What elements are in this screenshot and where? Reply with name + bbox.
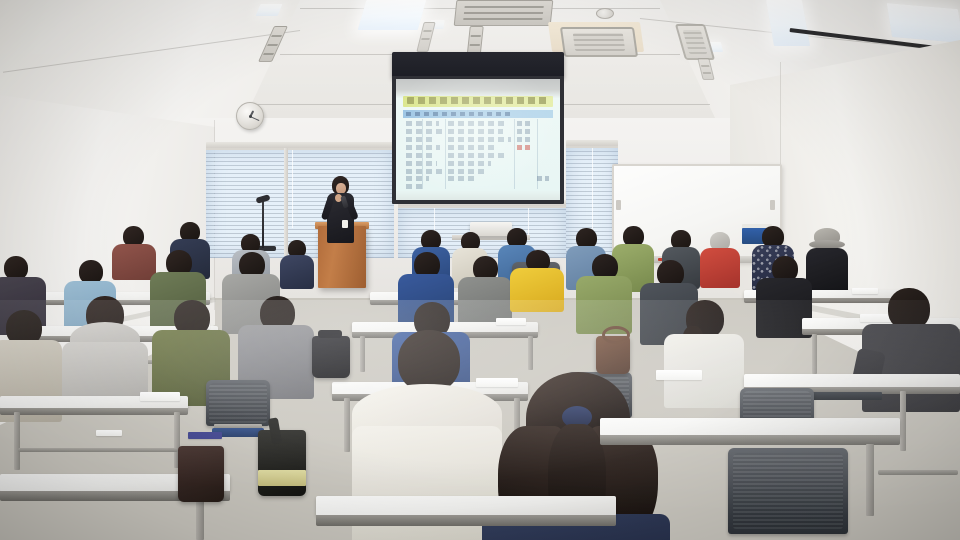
slide-row [406, 137, 436, 142]
slide-row [406, 176, 429, 181]
blind-cord[interactable] [592, 148, 593, 234]
slide-row [406, 184, 424, 189]
attendee-red-top [700, 232, 740, 286]
slide-row [448, 145, 497, 150]
blind-cord[interactable] [292, 150, 293, 228]
slide-value [517, 137, 532, 142]
slide-row [448, 169, 484, 174]
slide-value [537, 176, 548, 181]
slide-row [406, 153, 432, 158]
slide-value-highlighted [517, 145, 532, 150]
wall-clock [236, 102, 264, 130]
projection-screen-case [392, 52, 564, 78]
air-vent-linear-left [454, 0, 554, 26]
slide-header-row [403, 110, 554, 118]
slide-row [406, 145, 440, 150]
slide-row [406, 129, 442, 134]
slide-row [406, 121, 439, 126]
slide-value [517, 129, 532, 134]
slide-row [448, 129, 502, 134]
projection-screen [396, 79, 560, 200]
slide-row [448, 153, 504, 158]
slide-row [448, 176, 478, 181]
light-panel-3 [887, 3, 960, 43]
slide-row [406, 161, 437, 166]
slide-row [448, 121, 507, 126]
slide-row [448, 137, 510, 142]
presenter [322, 176, 358, 246]
smoke-detector-icon [596, 8, 614, 19]
seminar-room-photo: Seminar room lecture in progress [0, 0, 960, 540]
whiteboard-clip [616, 200, 621, 210]
attendee-back-left-4 [280, 240, 314, 286]
light-panel-1 [358, 0, 427, 30]
floor-light-reflection [0, 300, 960, 540]
air-vent-cassette-center [560, 27, 638, 57]
presenter-name-badge [342, 220, 348, 228]
slide-title-band [403, 96, 554, 107]
slide-value [517, 121, 532, 126]
slide-row [406, 169, 444, 174]
slide-row [448, 161, 491, 166]
whiteboard-clip [770, 200, 775, 210]
attendee-bucket-hat [806, 228, 848, 290]
